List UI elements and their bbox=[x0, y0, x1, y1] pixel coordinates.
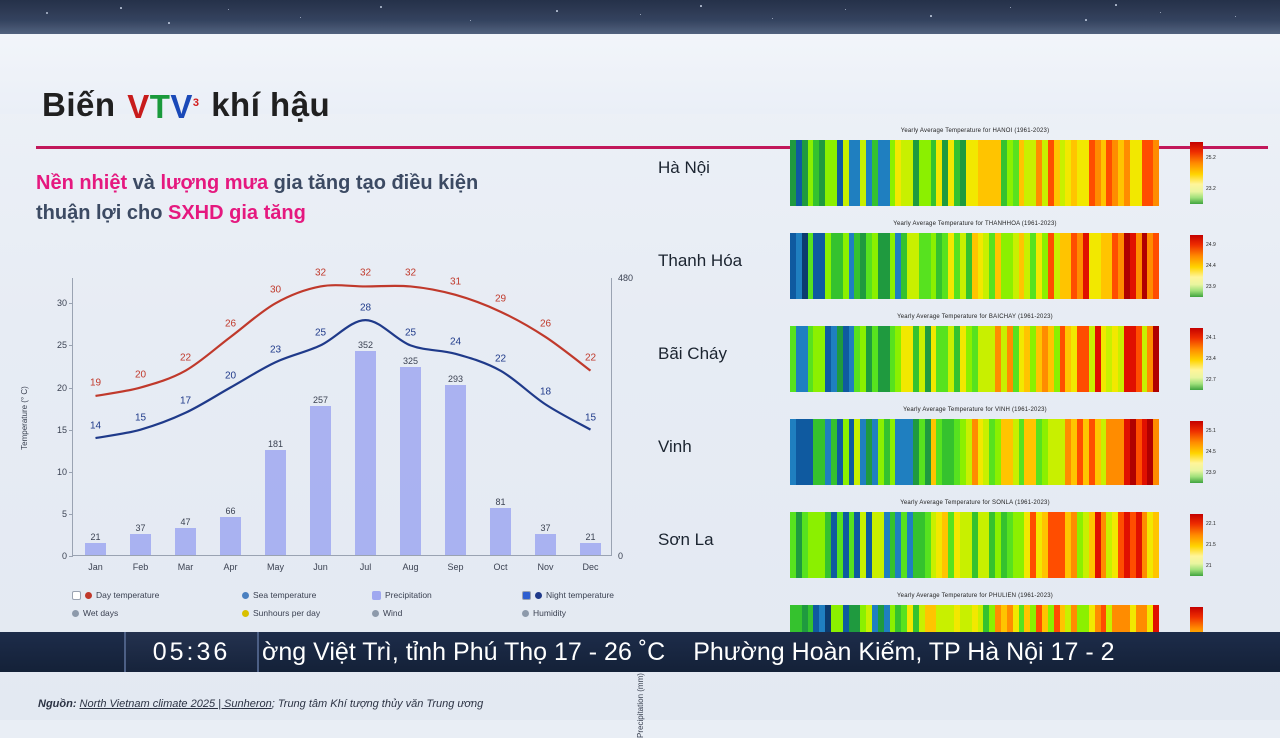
headline-plain-2: gia tăng tạo điều kiện bbox=[268, 172, 478, 194]
stripe-colorbar bbox=[1190, 328, 1203, 390]
chart-point-label: 32 bbox=[315, 268, 326, 279]
stripe-colorbar bbox=[1190, 235, 1203, 297]
stripe-bars bbox=[790, 140, 1160, 206]
chart-line bbox=[96, 285, 591, 396]
chart-point-label: 29 bbox=[495, 293, 506, 304]
ticker-clock-box: 05:36 bbox=[124, 632, 259, 672]
ticker-item: Phường Hoàn Kiếm, TP Hà Nội 17 - 2 bbox=[693, 638, 1114, 667]
legend-label: Precipitation bbox=[385, 590, 432, 600]
chart-x-tick: Jan bbox=[88, 562, 103, 572]
stripe-chart-title: Yearly Average Temperature for VINH (196… bbox=[790, 407, 1160, 413]
star-icon bbox=[640, 14, 641, 15]
chart-point-label: 25 bbox=[315, 328, 326, 339]
star-icon bbox=[556, 10, 558, 12]
warming-stripe-row: VinhYearly Average Temperature for VINH … bbox=[650, 407, 1270, 487]
chart-y-tick: 0 bbox=[62, 551, 67, 561]
chart-y2-axis-label: Precipitation (mm) bbox=[636, 673, 645, 738]
star-icon bbox=[168, 22, 170, 24]
colorbar-tick-label: 25.1 bbox=[1206, 428, 1216, 434]
colorbar-tick-label: 21.5 bbox=[1206, 542, 1216, 548]
legend-dot bbox=[522, 610, 529, 617]
ticker-item: ờng Việt Trì, tỉnh Phú Thọ 17 - 26 ˚C bbox=[262, 638, 665, 667]
star-icon bbox=[1235, 16, 1236, 17]
source-prefix: Nguồn: bbox=[38, 698, 80, 710]
star-icon bbox=[1085, 19, 1087, 21]
stripe-city-label: Thanh Hóa bbox=[658, 251, 742, 271]
headline-emphasis-1: Nền nhiệt bbox=[36, 172, 127, 194]
legend-row-1: Day temperatureSea temperaturePrecipitat… bbox=[72, 590, 652, 608]
chart-y-tick: 30 bbox=[57, 298, 67, 308]
legend-dot bbox=[85, 592, 92, 599]
chart-point-label: 15 bbox=[585, 412, 596, 423]
stripe-city-label: Hà Nội bbox=[658, 158, 710, 178]
star-icon bbox=[930, 15, 932, 17]
legend-item[interactable]: Humidity bbox=[522, 608, 566, 618]
chart-y-tick: 10 bbox=[57, 467, 67, 477]
title-text-before: Biến bbox=[42, 86, 116, 123]
star-icon bbox=[470, 20, 471, 21]
chart-x-tick: Feb bbox=[133, 562, 149, 572]
chart-x-tick: Dec bbox=[582, 562, 598, 572]
chart-point-label: 25 bbox=[405, 328, 416, 339]
legend-dot bbox=[535, 592, 542, 599]
stripe-chart-title: Yearly Average Temperature for HANOI (19… bbox=[790, 128, 1160, 134]
stripe-colorbar bbox=[1190, 142, 1203, 204]
source-suffix: ; Trung tâm Khí tượng thủy văn Trung ươn… bbox=[272, 698, 484, 710]
chart-point-label: 17 bbox=[180, 395, 191, 406]
headline-emphasis-3: SXHD gia tăng bbox=[168, 202, 306, 224]
source-note: Nguồn: North Vietnam climate 2025 | Sunh… bbox=[38, 698, 483, 710]
chart-x-tick: Nov bbox=[537, 562, 553, 572]
chart-point-label: 20 bbox=[135, 369, 146, 380]
star-icon bbox=[1160, 12, 1161, 13]
chart-y-axis-label: Temperature (° C) bbox=[20, 386, 29, 450]
headline-plain-3: thuận lợi cho bbox=[36, 202, 168, 224]
chart-point-label: 22 bbox=[585, 352, 596, 363]
stripe-bars bbox=[790, 512, 1160, 578]
colorbar-tick-label: 24.5 bbox=[1206, 449, 1216, 455]
stripe-city-label: Bãi Cháy bbox=[658, 344, 727, 364]
legend-item[interactable]: Sunhours per day bbox=[242, 608, 320, 618]
chart-x-tick: Oct bbox=[493, 562, 507, 572]
colorbar-tick-label: 25.2 bbox=[1206, 155, 1216, 161]
chart-point-label: 26 bbox=[540, 318, 551, 329]
stripe-colorbar-ticks: 24.924.423.9 bbox=[1206, 235, 1246, 297]
stripe-chart-title: Yearly Average Temperature for PHULIEN (… bbox=[790, 593, 1160, 599]
legend-label: Night temperature bbox=[546, 590, 614, 600]
chart-y2-tick: 0 bbox=[618, 551, 623, 561]
warming-stripe-row: Bãi CháyYearly Average Temperature for B… bbox=[650, 314, 1270, 394]
legend-label: Day temperature bbox=[96, 590, 159, 600]
colorbar-tick-label: 22.7 bbox=[1206, 377, 1216, 383]
legend-dot bbox=[242, 610, 249, 617]
chart-x-tick: Apr bbox=[223, 562, 237, 572]
news-ticker: 05:36 ờng Việt Trì, tỉnh Phú Thọ 17 - 26… bbox=[0, 632, 1280, 672]
legend-label: Sea temperature bbox=[253, 590, 316, 600]
stripe-colorbar-ticks: 25.124.523.9 bbox=[1206, 421, 1246, 483]
star-icon bbox=[1115, 4, 1117, 6]
chart-legend: Day temperatureSea temperaturePrecipitat… bbox=[72, 590, 652, 626]
ticker-left-bar bbox=[0, 632, 124, 672]
legend-label: Wet days bbox=[83, 608, 118, 618]
star-icon bbox=[772, 18, 773, 19]
chart-y-tick: 15 bbox=[57, 425, 67, 435]
legend-swatch bbox=[72, 591, 81, 600]
title-text-after: khí hậu bbox=[211, 86, 330, 123]
stripe-chart-title: Yearly Average Temperature for SONLA (19… bbox=[790, 500, 1160, 506]
chart-y2-tick: 480 bbox=[618, 273, 633, 283]
legend-label: Sunhours per day bbox=[253, 608, 320, 618]
warming-stripe-row: Hà NộiYearly Average Temperature for HAN… bbox=[650, 128, 1270, 208]
legend-item[interactable]: Night temperature bbox=[522, 590, 614, 600]
chart-point-label: 14 bbox=[90, 421, 101, 432]
stripe-colorbar bbox=[1190, 514, 1203, 576]
chart-y-tickmark bbox=[69, 556, 73, 557]
star-icon bbox=[1010, 7, 1011, 8]
legend-swatch bbox=[522, 591, 531, 600]
chart-point-label: 32 bbox=[360, 268, 371, 279]
slide-header: Biến VTV3 khí hậu bbox=[0, 34, 1280, 114]
stripe-colorbar-ticks: 25.223.2 bbox=[1206, 142, 1246, 204]
clock-text: 05:36 bbox=[153, 638, 231, 667]
stripe-chart-title: Yearly Average Temperature for BAICHAY (… bbox=[790, 314, 1160, 320]
vtv-logo: VTV3 bbox=[127, 88, 199, 126]
legend-item[interactable]: Precipitation bbox=[372, 590, 432, 600]
star-icon bbox=[700, 5, 702, 7]
chart-point-label: 15 bbox=[135, 412, 146, 423]
warming-stripe-row: Sơn LaYearly Average Temperature for SON… bbox=[650, 500, 1270, 580]
colorbar-tick-label: 24.1 bbox=[1206, 335, 1216, 341]
colorbar-tick-label: 23.9 bbox=[1206, 284, 1216, 290]
chart-point-label: 22 bbox=[495, 353, 506, 364]
colorbar-tick-label: 23.2 bbox=[1206, 186, 1216, 192]
legend-item[interactable]: Wet days bbox=[72, 608, 118, 618]
legend-item[interactable]: Wind bbox=[372, 608, 402, 618]
chart-x-tick: Mar bbox=[178, 562, 194, 572]
chart-point-label: 32 bbox=[405, 268, 416, 279]
star-icon bbox=[228, 9, 229, 10]
legend-label: Humidity bbox=[533, 608, 566, 618]
legend-swatch bbox=[372, 591, 381, 600]
ticker-items: ờng Việt Trì, tỉnh Phú Thọ 17 - 26 ˚CPhư… bbox=[262, 632, 1143, 672]
legend-label: Wind bbox=[383, 608, 402, 618]
stripe-bars bbox=[790, 233, 1160, 299]
chart-point-label: 19 bbox=[90, 377, 101, 388]
warming-stripes-panel: Hà NộiYearly Average Temperature for HAN… bbox=[650, 128, 1270, 698]
colorbar-tick-label: 22.1 bbox=[1206, 521, 1216, 527]
chart-y-tick: 5 bbox=[62, 509, 67, 519]
chart-line-layer bbox=[73, 278, 613, 556]
star-icon bbox=[46, 12, 48, 14]
colorbar-tick-label: 24.9 bbox=[1206, 242, 1216, 248]
warming-stripe-row: Thanh HóaYearly Average Temperature for … bbox=[650, 221, 1270, 301]
legend-row-2: Wet daysSunhours per dayWindHumidity bbox=[72, 608, 652, 626]
stripe-city-label: Sơn La bbox=[658, 530, 714, 550]
colorbar-tick-label: 23.4 bbox=[1206, 356, 1216, 362]
colorbar-tick-label: 23.9 bbox=[1206, 470, 1216, 476]
legend-item[interactable]: Day temperature bbox=[72, 590, 159, 600]
star-icon bbox=[300, 17, 301, 18]
headline-emphasis-2: lượng mưa bbox=[160, 172, 268, 194]
chart-point-label: 18 bbox=[540, 387, 551, 398]
chart-y-tick: 20 bbox=[57, 383, 67, 393]
chart-plot-area: 051015202530048021Jan37Feb47Mar66Apr181M… bbox=[72, 278, 612, 556]
chart-x-tick: Aug bbox=[402, 562, 418, 572]
chart-point-label: 28 bbox=[360, 303, 371, 314]
chart-y-tick: 25 bbox=[57, 340, 67, 350]
colorbar-tick-label: 24.4 bbox=[1206, 263, 1216, 269]
chart-point-label: 30 bbox=[270, 285, 281, 296]
stripe-colorbar-ticks: 22.121.521 bbox=[1206, 514, 1246, 576]
climograph-chart: Temperature (° C) Precipitation (mm) 051… bbox=[24, 268, 664, 648]
chart-point-label: 24 bbox=[450, 336, 461, 347]
source-link: North Vietnam climate 2025 | Sunheron bbox=[80, 698, 272, 710]
chart-point-label: 20 bbox=[225, 370, 236, 381]
star-icon bbox=[845, 9, 846, 10]
stripe-bars bbox=[790, 326, 1160, 392]
chart-point-label: 31 bbox=[450, 276, 461, 287]
headline-text: Nền nhiệt và lượng mưa gia tăng tạo điều… bbox=[36, 168, 636, 228]
chart-point-label: 22 bbox=[180, 352, 191, 363]
headline-plain-1: và bbox=[127, 172, 160, 194]
legend-dot bbox=[372, 610, 379, 617]
legend-dot bbox=[242, 592, 249, 599]
star-icon bbox=[120, 7, 122, 9]
colorbar-tick-label: 21 bbox=[1206, 563, 1212, 569]
legend-dot bbox=[72, 610, 79, 617]
chart-x-tick: May bbox=[267, 562, 284, 572]
chart-point-label: 23 bbox=[270, 345, 281, 356]
stripe-chart-title: Yearly Average Temperature for THANHHOA … bbox=[790, 221, 1160, 227]
chart-x-tick: Jul bbox=[360, 562, 372, 572]
stripe-city-label: Vinh bbox=[658, 437, 692, 457]
vtv-logo-superscript: 3 bbox=[193, 97, 200, 109]
stripe-colorbar bbox=[1190, 421, 1203, 483]
stripe-colorbar-ticks: 24.123.422.7 bbox=[1206, 328, 1246, 390]
star-icon bbox=[380, 6, 382, 8]
slide-root: Biến VTV3 khí hậu Nền nhiệt và lượng mưa… bbox=[0, 0, 1280, 720]
top-dark-band bbox=[0, 0, 1280, 34]
stripe-bars bbox=[790, 419, 1160, 485]
chart-point-label: 26 bbox=[225, 318, 236, 329]
legend-item[interactable]: Sea temperature bbox=[242, 590, 316, 600]
chart-x-tick: Sep bbox=[447, 562, 463, 572]
page-title: Biến VTV3 khí hậu bbox=[42, 86, 330, 126]
chart-x-tick: Jun bbox=[313, 562, 328, 572]
